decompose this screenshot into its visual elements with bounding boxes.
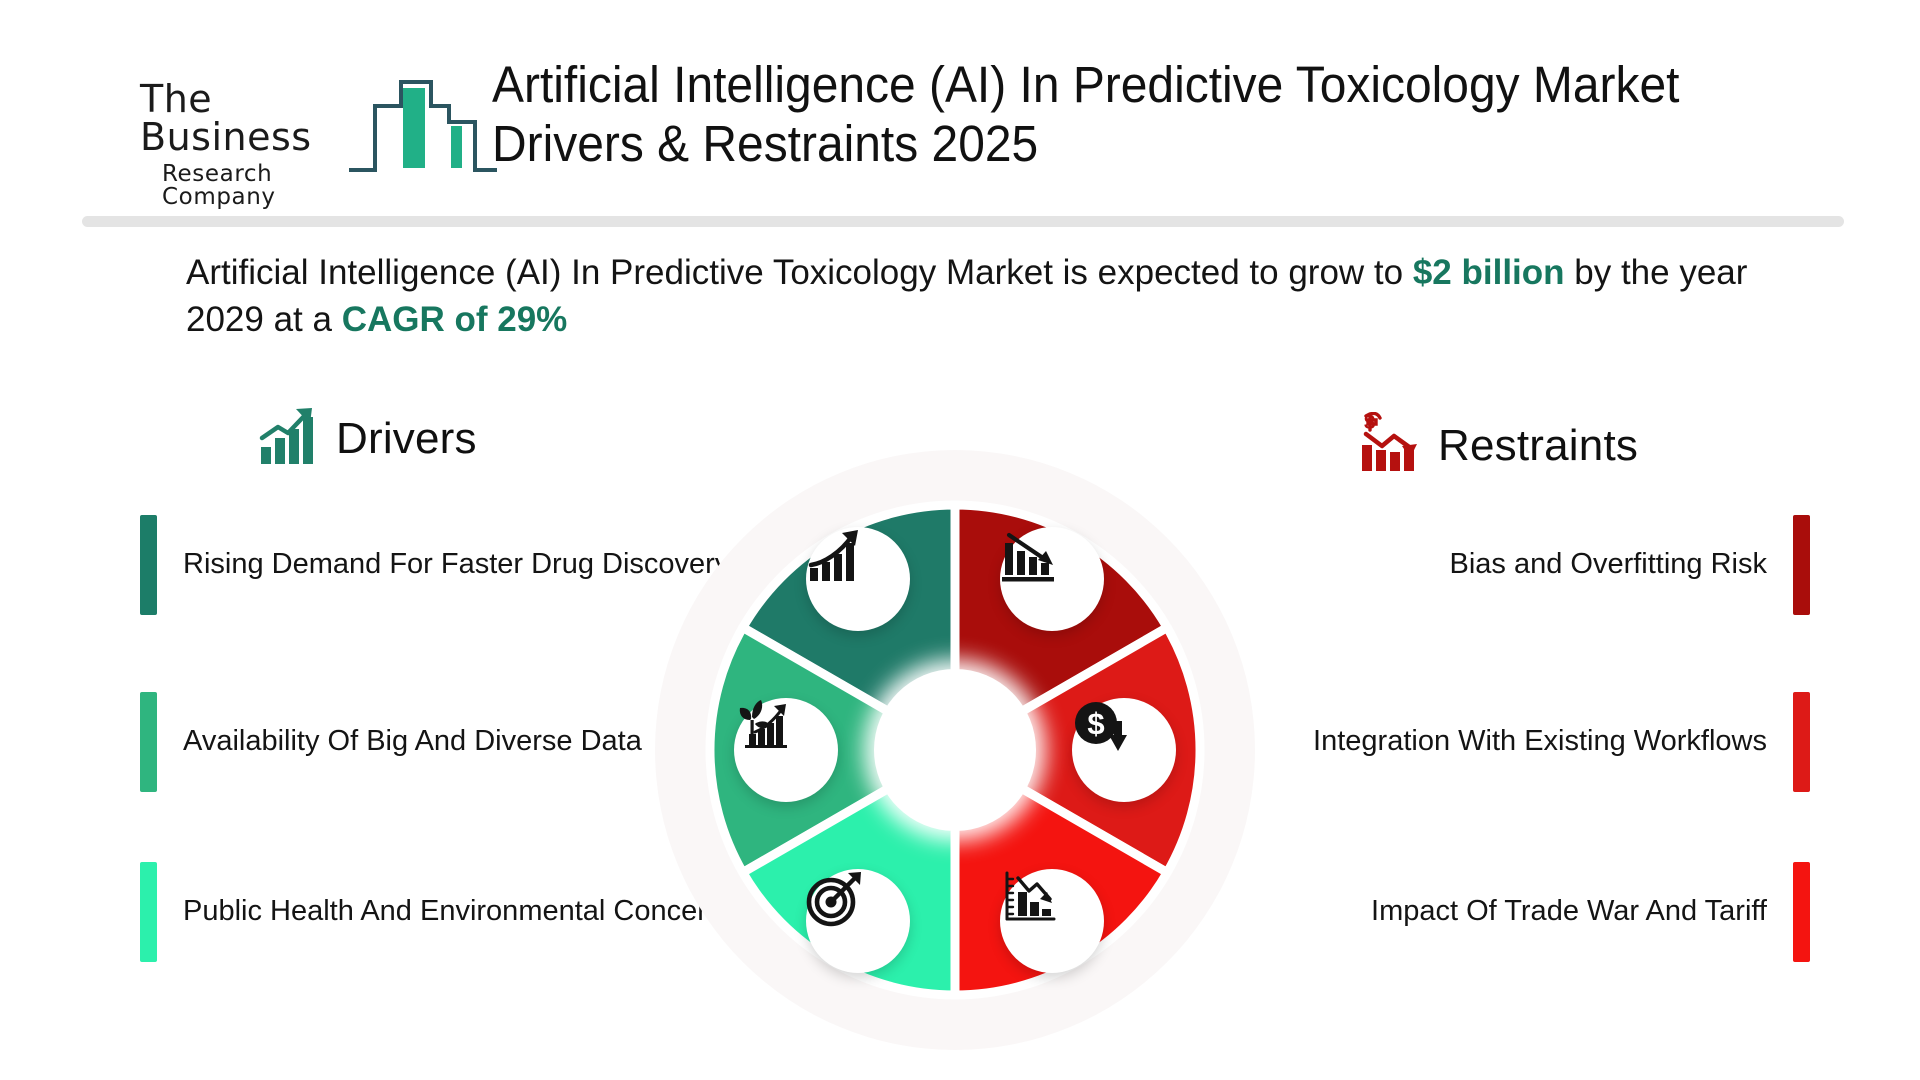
restraint-accent-bar-3 [1793,862,1810,962]
driver-accent-bar-1 [140,515,157,615]
company-logo: The Business Research Company [140,62,460,172]
falling-bar-chart-dollar-icon: $ [1360,412,1422,479]
wheel-badge-dollar-down: $ [1072,698,1176,802]
logo-wordmark: The Business Research Company [140,80,355,209]
drivers-restraints-wheel: $ [655,450,1255,1050]
svg-text:$: $ [1364,412,1375,434]
wheel-badge-plant-growth [734,698,838,802]
summary-part-1: Artificial Intelligence (AI) In Predicti… [186,253,1413,292]
infographic-page: The Business Research Company Artificial… [0,0,1920,1080]
restraint-item-2: Integration With Existing Workflows [1170,692,1810,792]
wheel-badge-declining-chart [1000,869,1104,973]
driver-accent-bar-3 [140,862,157,962]
drivers-heading-label: Drivers [336,414,477,464]
drivers-section-heading: Drivers [258,405,477,472]
restraint-label-2: Integration With Existing Workflows [1170,692,1793,792]
restraints-heading-label: Restraints [1438,421,1638,471]
logo-line-2: Research Company [140,163,355,209]
restraints-section-heading: $ Restraints [1360,412,1638,479]
page-title: Artificial Intelligence (AI) In Predicti… [492,55,1714,173]
restraint-item-1: Bias and Overfitting Risk [1170,515,1810,615]
wheel-badge-growth-chart [806,527,910,631]
wheel-hub [874,669,1036,831]
market-value-highlight: $2 billion [1413,253,1565,292]
svg-text:$: $ [1087,706,1104,741]
restraint-accent-bar-2 [1793,692,1810,792]
driver-label-1: Rising Demand For Faster Drug Discovery [157,515,729,615]
wheel-badge-declining-bars [1000,527,1104,631]
restraint-label-1: Bias and Overfitting Risk [1170,515,1793,615]
restraint-item-3: Impact Of Trade War And Tariff [1170,862,1810,962]
restraint-accent-bar-1 [1793,515,1810,615]
driver-label-2: Availability Of Big And Diverse Data [157,692,642,792]
cagr-highlight: CAGR of 29% [342,300,568,339]
wheel-badge-target [806,869,910,973]
driver-label-3: Public Health And Environmental Concerns [157,862,738,962]
market-summary-text: Artificial Intelligence (AI) In Predicti… [186,250,1766,343]
logo-line-1: The Business [140,80,355,156]
restraint-label-3: Impact Of Trade War And Tariff [1170,862,1793,962]
bar-chart-logo-mark-icon [345,64,500,179]
page-header: The Business Research Company Artificial… [0,0,1920,205]
header-divider [82,216,1844,227]
rising-bar-chart-icon [258,405,320,472]
driver-accent-bar-2 [140,692,157,792]
